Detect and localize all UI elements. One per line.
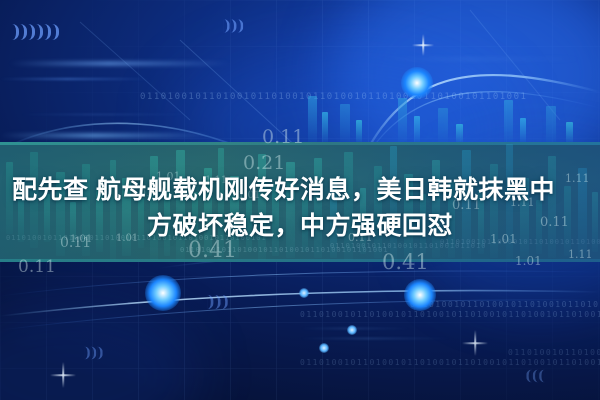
glow-node-upper [401, 67, 433, 99]
chevron-icon [526, 370, 532, 383]
binary-strip-1: 0110100101101001011010010110100101 [410, 300, 600, 309]
value-label-7: 0.11 [18, 257, 56, 277]
binary-strip-0: 0110100101101001011010010110100101101001… [140, 92, 527, 102]
sparkle-icon-1 [50, 362, 76, 388]
glow-node-left [145, 275, 181, 311]
glow-node-small-c [319, 343, 329, 353]
glow-node-small-a [299, 288, 309, 298]
light-streak-3 [20, 114, 190, 115]
binary-strip-4: 0110100101101001 [508, 348, 600, 357]
chevron-icon [12, 24, 19, 40]
chevron-icon [224, 19, 230, 33]
upper-bar-7 [456, 124, 463, 144]
chevrons-top-left [12, 24, 59, 40]
chevron-icon [533, 370, 539, 383]
chevron-icon [97, 347, 103, 360]
chevrons-mid-right [207, 295, 228, 309]
chevron-icon [207, 295, 213, 309]
chevron-icon [237, 19, 243, 33]
chevron-icon [36, 24, 43, 40]
upper-bar-1 [322, 112, 328, 144]
value-label-18: 1.01 [515, 254, 542, 268]
chevron-icon [52, 24, 59, 40]
light-streak-5 [300, 338, 450, 339]
upper-bar-11 [566, 122, 573, 144]
binary-strip-3: 0110100101101001011010010110100101101001… [300, 358, 600, 367]
light-streak-0 [10, 62, 230, 65]
value-label-1: 0.21 [243, 152, 285, 174]
upper-bar-9 [520, 118, 526, 144]
upper-bar-2 [340, 104, 350, 144]
upper-bar-0 [308, 96, 317, 144]
chevrons-bottom-right [526, 370, 544, 383]
chevron-icon [214, 295, 220, 309]
upper-bar-3 [356, 120, 362, 144]
upper-bar-5 [414, 116, 420, 144]
chevron-icon [231, 19, 237, 33]
sparkle-icon-2 [462, 330, 488, 356]
headline-line-2: 方破坏稳定，中方强硬回怼 [0, 208, 600, 244]
news-headline-graphic: 0110100101101001011010010110100101101001… [0, 0, 600, 400]
binary-strip-2: 0110100101101001011010010110100101101001… [300, 310, 600, 319]
value-label-17: 1.11 [568, 248, 593, 261]
value-label-9: 0.41 [382, 250, 429, 274]
chevron-icon [28, 24, 35, 40]
sparkle-icon-0 [412, 34, 434, 56]
headline-line-1: 配先查 航母舰载机刚传好消息，美日韩就抹黑中 [0, 172, 600, 208]
chevron-icon [539, 370, 545, 383]
chevron-icon [20, 24, 27, 40]
light-streak-2 [0, 134, 210, 137]
upper-bar-8 [504, 100, 513, 144]
chevrons-lower-left [84, 347, 102, 360]
glow-node-small-b [347, 325, 357, 335]
upper-bar-10 [546, 106, 556, 144]
upper-bar-4 [398, 98, 407, 144]
light-streak-1 [0, 78, 150, 80]
chevron-icon [222, 295, 228, 309]
chevron-icon [44, 24, 51, 40]
upper-bar-6 [438, 108, 448, 144]
chevron-icon [91, 347, 97, 360]
value-label-0: 0.11 [262, 126, 304, 148]
chevron-icon [84, 347, 90, 360]
glow-node-right [404, 279, 436, 311]
band-bottom-edge [0, 259, 600, 262]
light-streak-4 [380, 58, 580, 60]
chevrons-top-center [224, 19, 244, 33]
